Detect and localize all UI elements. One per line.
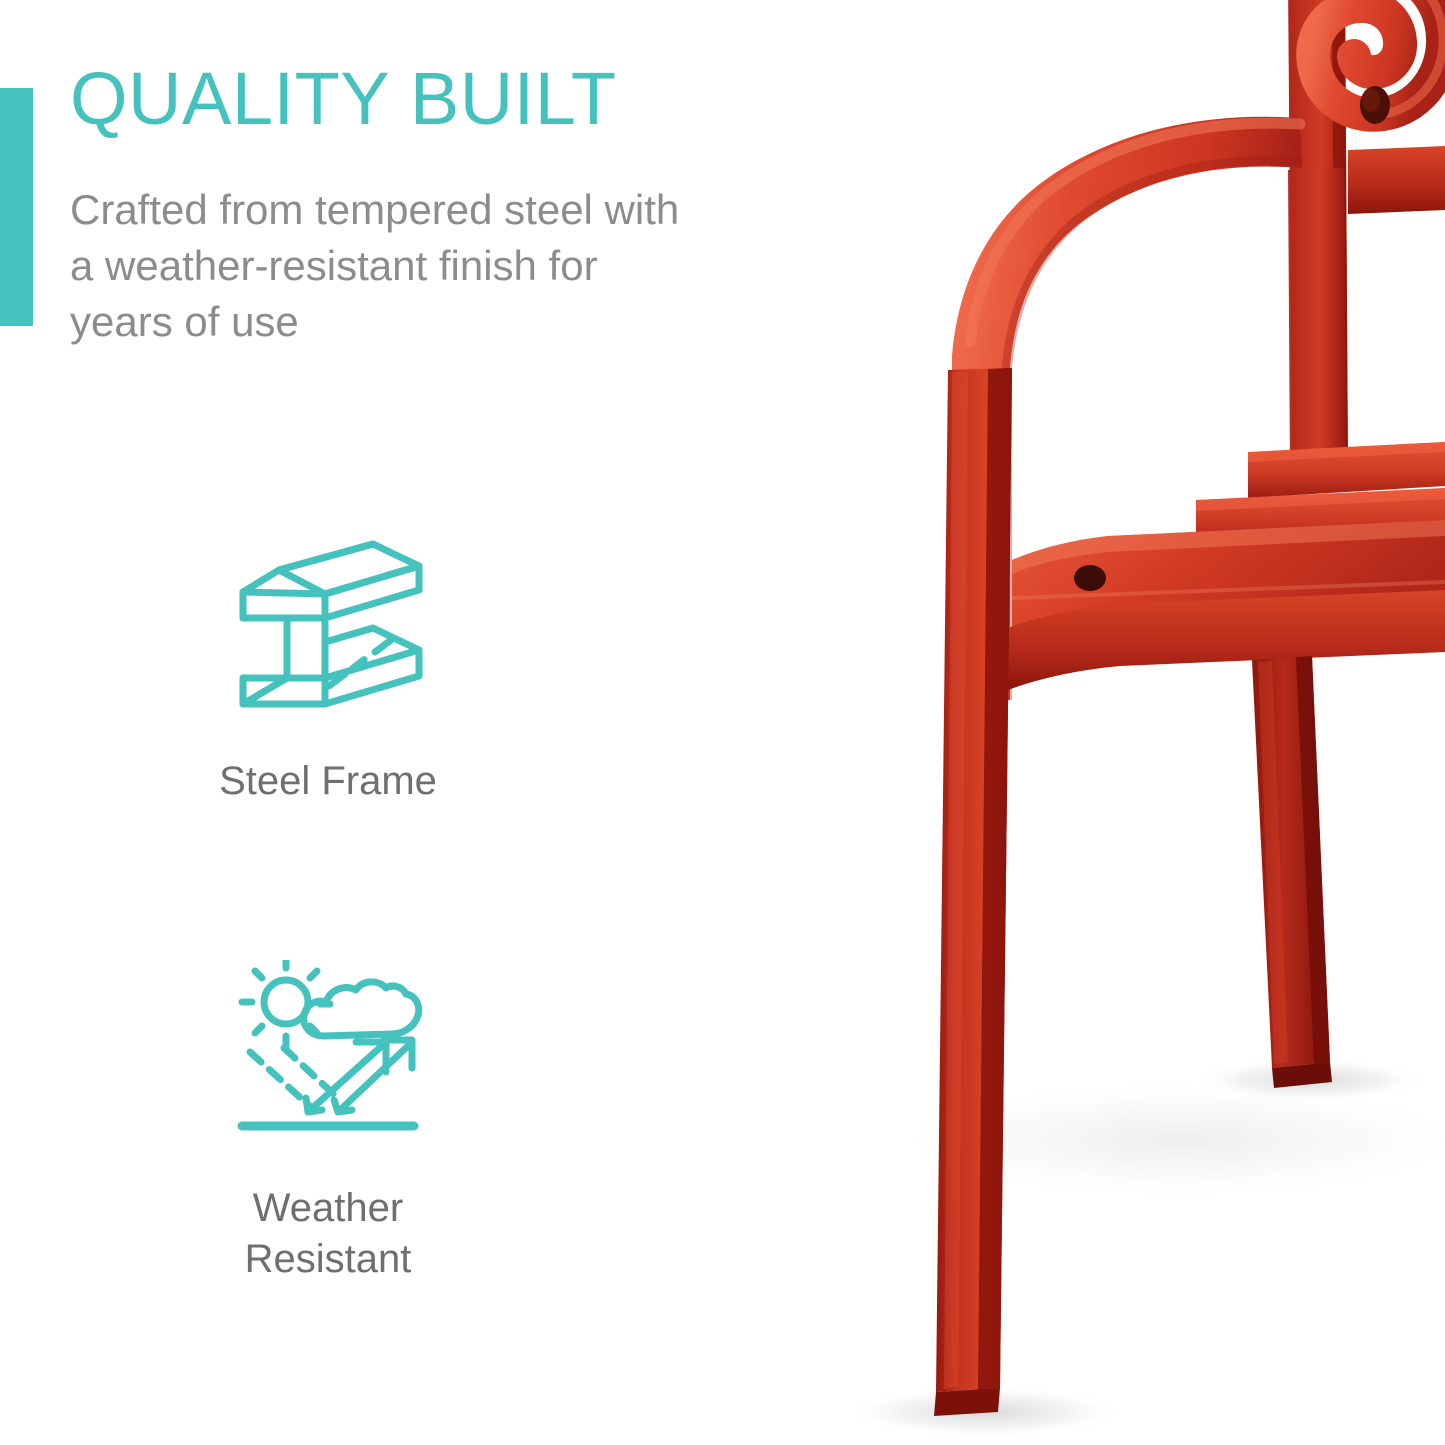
page-subtitle: Crafted from tempered steel with a weath… [70, 182, 710, 350]
feature-label-weather-resistant: Weather Resistant [152, 1183, 504, 1285]
page-title: QUALITY BUILT [70, 62, 617, 136]
feature-weather-resistant: Weather Resistant [152, 960, 504, 1285]
feature-label-steel-frame: Steel Frame [152, 756, 504, 807]
steel-beam-icon [223, 528, 433, 728]
feature-label-line-2: Resistant [245, 1237, 412, 1281]
weather-resistant-icon [228, 960, 428, 1155]
feature-label-line-1: Weather [253, 1186, 403, 1230]
accent-bar [0, 88, 33, 326]
product-feature-banner: QUALITY BUILT Crafted from tempered stee… [0, 0, 1445, 1445]
feature-steel-frame: Steel Frame [152, 528, 504, 807]
